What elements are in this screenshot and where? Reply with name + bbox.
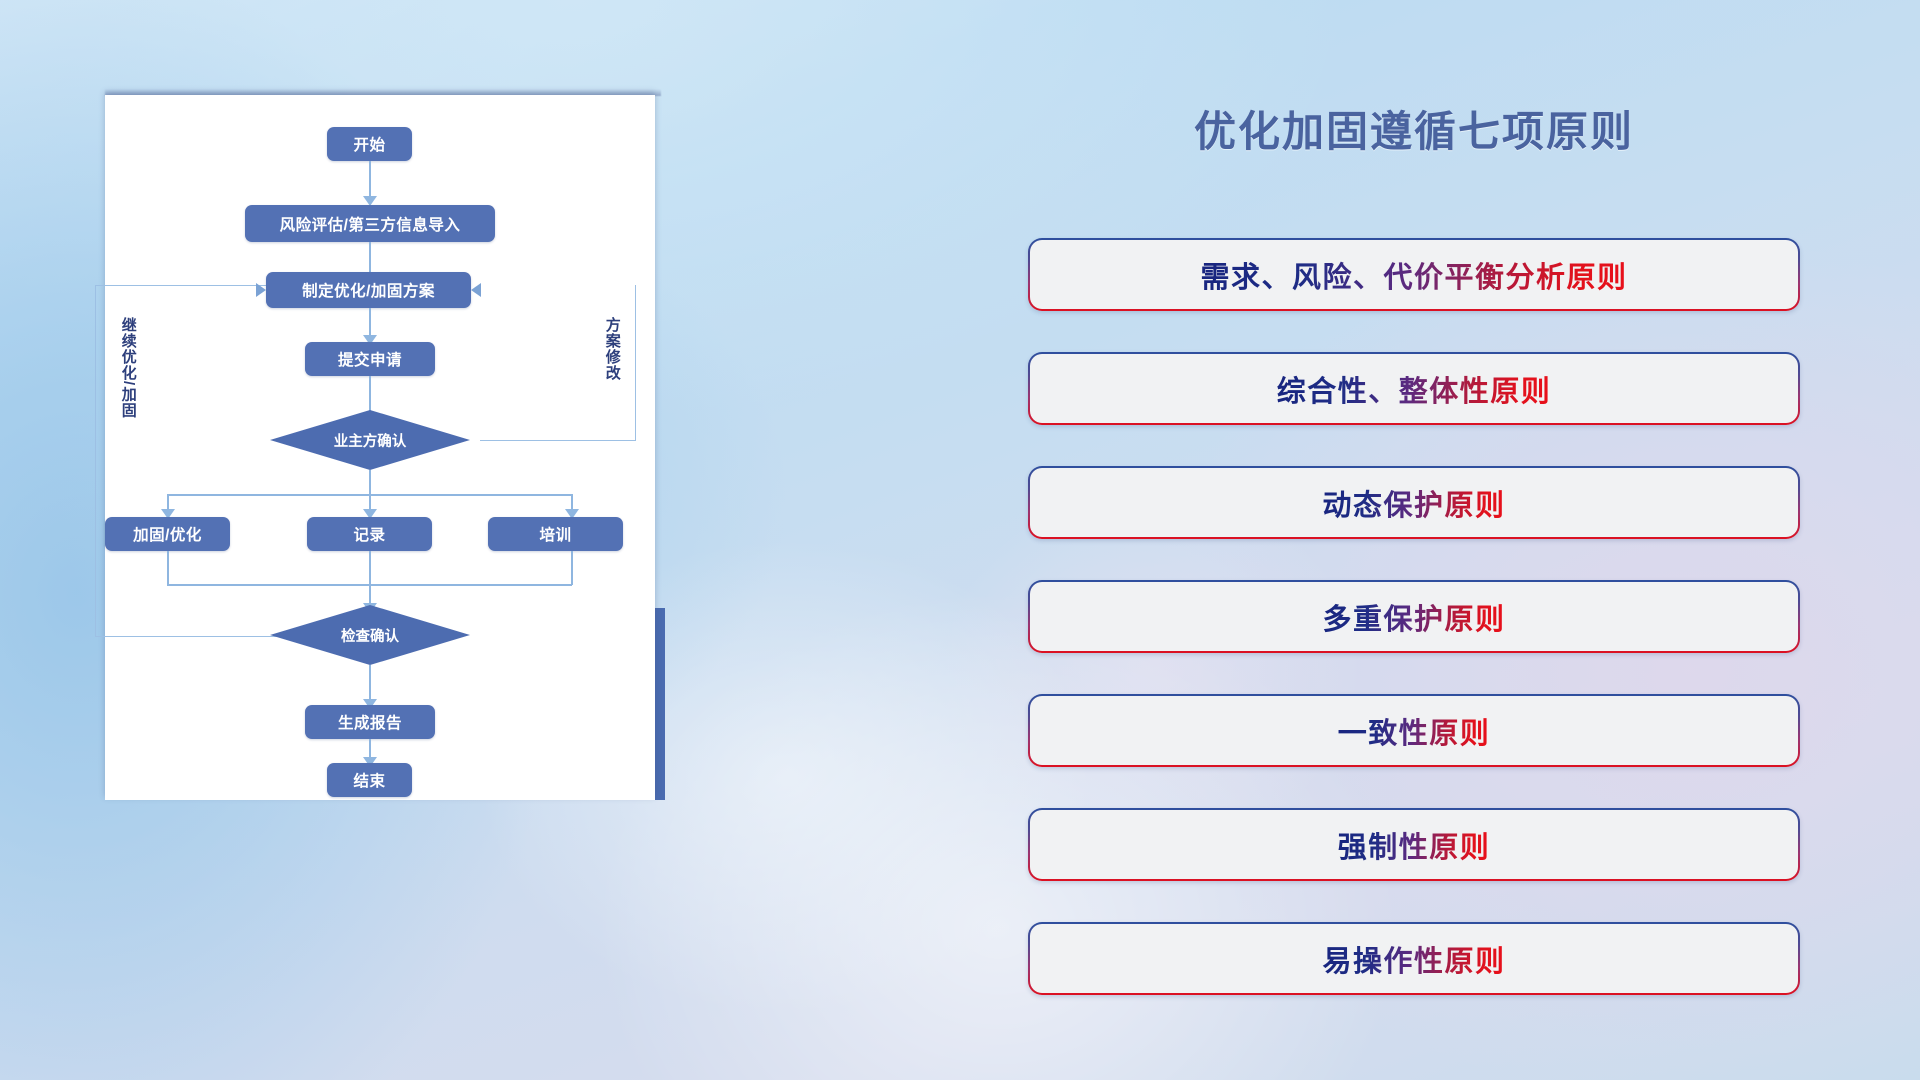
principle-label: 综合性、整体性原则 [1277,368,1552,410]
principle-card-inner: 综合性、整体性原则 [1030,354,1798,423]
arrow-left-icon [471,283,481,297]
principle-card[interactable]: 一致性原则 [1028,694,1800,767]
principle-card[interactable]: 强制性原则 [1028,808,1800,881]
flow-node-start[interactable]: 开始 [327,127,412,161]
principle-label: 一致性原则 [1338,710,1491,752]
principle-card-inner: 强制性原则 [1030,810,1798,879]
principle-label: 多重保护原则 [1322,596,1505,638]
principle-card[interactable]: 需求、风险、代价平衡分析原则 [1028,238,1800,311]
flow-node-end[interactable]: 结束 [327,763,412,797]
connector-merge-mid [369,551,371,585]
principles-list: 需求、风险、代价平衡分析原则 综合性、整体性原则 动态保护原则 多重保护原则 一… [1028,238,1800,1036]
principle-card-inner: 需求、风险、代价平衡分析原则 [1030,240,1798,309]
page-title: 优化加固遵循七项原则 [1028,98,1800,159]
principle-card-inner: 多重保护原则 [1030,582,1798,651]
connector-merge-left [167,551,169,585]
principle-card[interactable]: 多重保护原则 [1028,580,1800,653]
principle-card[interactable]: 易操作性原则 [1028,922,1800,995]
edge-label-continue-optimize: 继续优化/加固 [120,317,136,418]
flow-node-plan[interactable]: 制定优化/加固方案 [266,272,471,308]
flowchart-panel: 开始 风险评估/第三方信息导入 制定优化/加固方案 提交申请 继续优化/加固 方… [105,95,655,800]
flow-node-submit[interactable]: 提交申请 [305,342,435,376]
principle-label: 易操作性原则 [1322,938,1505,980]
principle-card-inner: 一致性原则 [1030,696,1798,765]
principle-card[interactable]: 动态保护原则 [1028,466,1800,539]
principle-card[interactable]: 综合性、整体性原则 [1028,352,1800,425]
principle-label: 动态保护原则 [1322,482,1505,524]
flowchart: 开始 风险评估/第三方信息导入 制定优化/加固方案 提交申请 继续优化/加固 方… [105,95,655,800]
connector-owner-split [369,470,371,495]
principle-label: 强制性原则 [1338,824,1491,866]
arrow-right-icon [256,283,266,297]
principle-card-inner: 动态保护原则 [1030,468,1798,537]
flow-node-reinforce[interactable]: 加固/优化 [105,517,230,551]
flow-node-training[interactable]: 培训 [488,517,623,551]
connector-merge-right [571,551,573,585]
principle-card-inner: 易操作性原则 [1030,924,1798,993]
flow-node-report[interactable]: 生成报告 [305,705,435,739]
principle-label: 需求、风险、代价平衡分析原则 [1200,254,1627,296]
edge-label-plan-revision: 方案修改 [604,317,620,381]
flow-node-record[interactable]: 记录 [307,517,432,551]
flow-node-risk-assessment[interactable]: 风险评估/第三方信息导入 [245,205,495,242]
